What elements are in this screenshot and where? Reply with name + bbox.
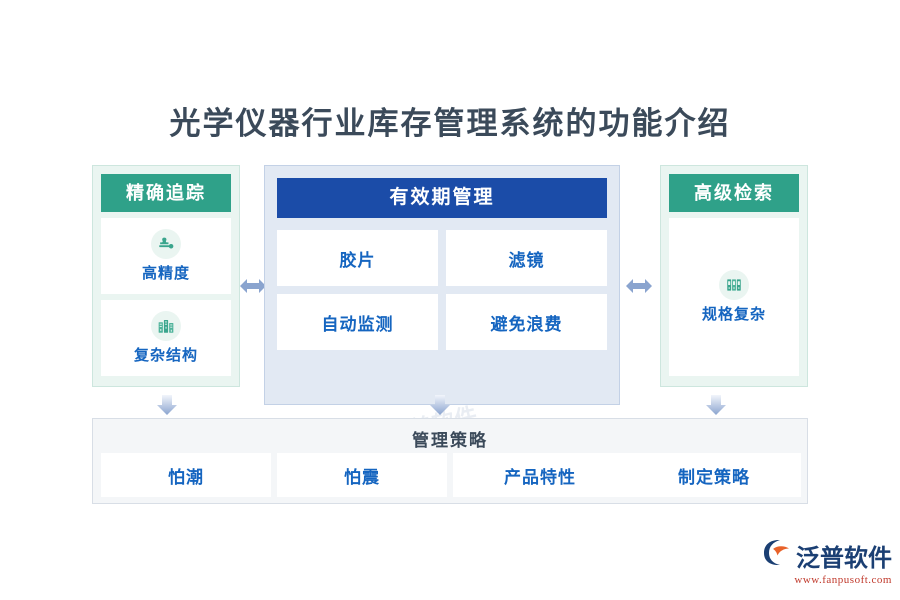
infographic-canvas: 光学仪器行业库存管理系统的功能介绍 精确追踪 高精度 <box>0 0 900 600</box>
down-arrow-center-icon <box>429 394 451 416</box>
card-film-label: 胶片 <box>340 246 376 271</box>
card-avoid-waste[interactable]: 避免浪费 <box>446 294 607 350</box>
panel-precise-tracking: 精确追踪 高精度 <box>92 165 240 387</box>
card-auto-monitoring-label: 自动监测 <box>322 310 394 335</box>
brand-row: 泛普软件 <box>762 538 892 573</box>
strategy-item-shock-label: 怕震 <box>344 463 380 488</box>
card-complex-specs[interactable]: 规格复杂 <box>669 218 799 376</box>
panel-advanced-search: 高级检索 <box>660 165 808 387</box>
stamp-icon <box>151 229 181 259</box>
panel-center-grid: 胶片 滤镜 自动监测 避免浪费 <box>277 230 607 350</box>
panel-left-header: 精确追踪 <box>101 174 231 212</box>
panel-expiry-management: 有效期管理 胶片 滤镜 自动监测 避免浪费 <box>264 165 620 405</box>
panel-right-header: 高级检索 <box>669 174 799 212</box>
card-complex-structure[interactable]: 复杂结构 <box>101 300 231 376</box>
strategy-item-group[interactable]: 产品特性 制定策略 <box>453 453 801 497</box>
strategy-item-damp[interactable]: 怕潮 <box>101 453 271 497</box>
cabinets-icon <box>151 311 181 341</box>
strategy-section: 管理策略 怕潮 怕震 产品特性 制定策略 <box>92 418 808 504</box>
brand-logo: 泛普软件 www.fanpusoft.com <box>762 538 892 586</box>
card-film[interactable]: 胶片 <box>277 230 438 286</box>
double-arrow-left-icon <box>240 277 266 295</box>
binders-icon <box>719 270 749 300</box>
brand-url: www.fanpusoft.com <box>762 574 892 586</box>
card-complex-specs-label: 规格复杂 <box>702 303 766 324</box>
down-arrow-right-icon <box>705 394 727 416</box>
card-filter[interactable]: 滤镜 <box>446 230 607 286</box>
brand-name: 泛普软件 <box>796 538 892 573</box>
panels-band: 精确追踪 高精度 <box>92 165 808 405</box>
card-avoid-waste-label: 避免浪费 <box>491 310 563 335</box>
double-arrow-right-icon <box>626 277 652 295</box>
strategy-item-damp-label: 怕潮 <box>168 463 204 488</box>
strategy-cards: 怕潮 怕震 产品特性 制定策略 <box>101 453 801 497</box>
panel-right-body: 规格复杂 <box>661 212 807 384</box>
strategy-item-formulate-label: 制定策略 <box>678 463 750 488</box>
page-title: 光学仪器行业库存管理系统的功能介绍 <box>0 98 900 143</box>
panel-center-header: 有效期管理 <box>277 178 607 218</box>
strategy-item-product-traits-label: 产品特性 <box>504 463 576 488</box>
card-high-precision[interactable]: 高精度 <box>101 218 231 294</box>
strategy-title: 管理策略 <box>93 426 807 451</box>
card-auto-monitoring[interactable]: 自动监测 <box>277 294 438 350</box>
panel-left-body: 高精度 <box>93 212 239 384</box>
card-complex-structure-label: 复杂结构 <box>134 344 198 365</box>
card-filter-label: 滤镜 <box>509 246 545 271</box>
down-arrow-left-icon <box>156 394 178 416</box>
brand-mark-icon <box>762 539 792 572</box>
strategy-item-shock[interactable]: 怕震 <box>277 453 447 497</box>
card-high-precision-label: 高精度 <box>142 262 190 283</box>
